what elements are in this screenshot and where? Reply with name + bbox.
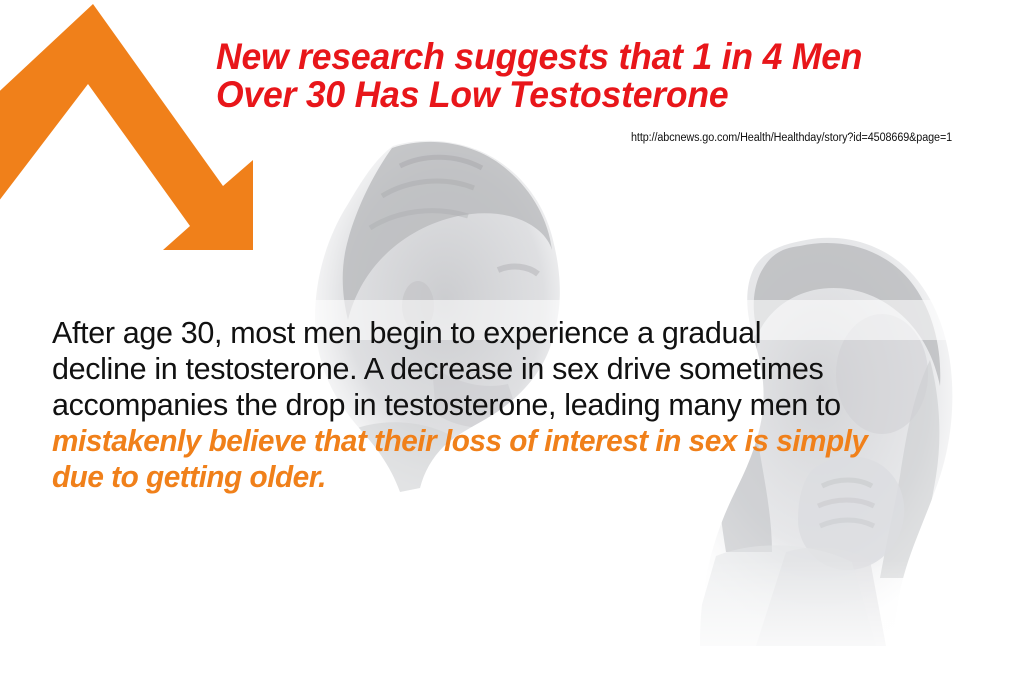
body-emphasis: mistakenly believe that their loss of in… <box>52 423 959 495</box>
body-copy: After age 30, most men begin to experien… <box>52 315 982 495</box>
page-title: New research suggests that 1 in 4 Men Ov… <box>216 38 974 114</box>
body-paragraph: After age 30, most men begin to experien… <box>52 315 982 423</box>
slide-canvas: New research suggests that 1 in 4 Men Ov… <box>0 0 1023 676</box>
source-url: http://abcnews.go.com/Health/Healthday/s… <box>631 131 952 145</box>
